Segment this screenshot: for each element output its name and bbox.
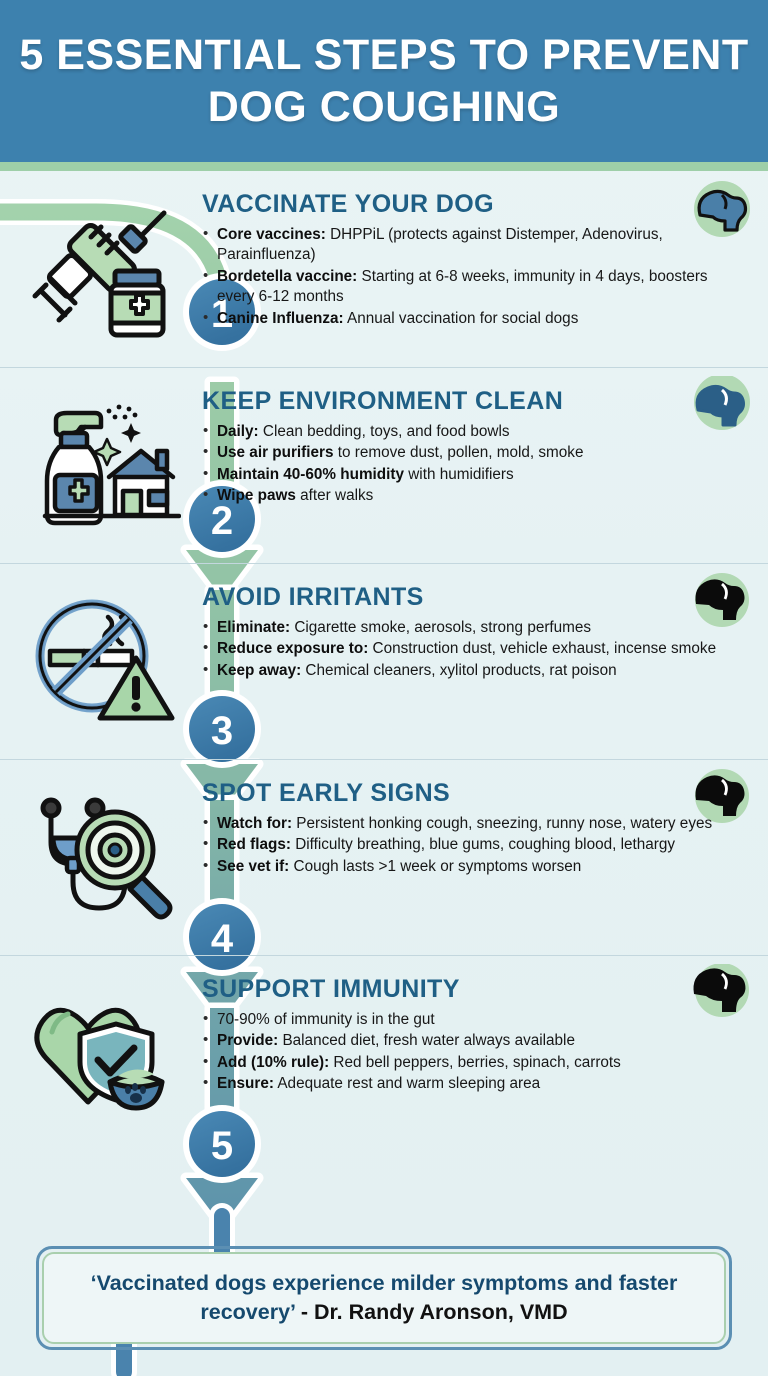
quote-text: ‘Vaccinated dogs experience milder sympt…	[60, 1269, 708, 1327]
quote-attribution: - Dr. Randy Aronson, VMD	[295, 1300, 568, 1324]
quote-inner-border: ‘Vaccinated dogs experience milder sympt…	[42, 1252, 726, 1344]
bullet-item: Ensure: Adequate rest and warm sleeping …	[202, 1074, 746, 1094]
bullet-item: Reduce exposure to: Construction dust, v…	[202, 639, 746, 659]
step-bullets: Eliminate: Cigarette smoke, aerosols, st…	[202, 618, 746, 681]
bullet-item: Maintain 40-60% humidity with humidifier…	[202, 465, 746, 485]
bullet-item: Red flags: Difficulty breathing, blue gu…	[202, 835, 746, 855]
bullet-item: Add (10% rule): Red bell peppers, berrie…	[202, 1053, 746, 1073]
step-title: Keep Environment Clean	[202, 386, 746, 416]
step-item: Vaccinate Your Dog Core vaccines: DHPPiL…	[0, 171, 768, 367]
step-item: Support Immunity 70-90% of immunity is i…	[0, 955, 768, 1151]
bullet-item: Bordetella vaccine: Starting at 6-8 week…	[202, 267, 746, 308]
spray-bottle-and-house-icon	[0, 382, 196, 553]
step-bullets: 70-90% of immunity is in the gut Provide…	[202, 1010, 746, 1095]
bullet-item: Watch for: Persistent honking cough, sne…	[202, 814, 746, 834]
bullet-item: Keep away: Chemical cleaners, xylitol pr…	[202, 661, 746, 681]
step-bullets: Core vaccines: DHPPiL (protects against …	[202, 225, 746, 329]
stethoscope-and-magnifier-icon	[0, 774, 196, 945]
step-body: Avoid Irritants Eliminate: Cigarette smo…	[196, 578, 750, 749]
syringe-and-vial-icon	[0, 185, 196, 357]
infographic-page: 5 Essential Steps to Prevent Dog Coughin…	[0, 0, 768, 1376]
step-item: Spot Early Signs Watch for: Persistent h…	[0, 759, 768, 955]
steps-list: Vaccinate Your Dog Core vaccines: DHPPiL…	[0, 171, 768, 1151]
step-title: Avoid Irritants	[202, 582, 746, 612]
bullet-item: Use air purifiers to remove dust, pollen…	[202, 443, 746, 463]
quote-footer: ‘Vaccinated dogs experience milder sympt…	[36, 1246, 732, 1350]
bullet-item: Wipe paws after walks	[202, 486, 746, 506]
step-body: Support Immunity 70-90% of immunity is i…	[196, 970, 750, 1141]
bullet-item: 70-90% of immunity is in the gut	[202, 1010, 746, 1030]
bullet-item: Provide: Balanced diet, fresh water alwa…	[202, 1031, 746, 1051]
step-item: Keep Environment Clean Daily: Clean bedd…	[0, 367, 768, 563]
step-body: Vaccinate Your Dog Core vaccines: DHPPiL…	[196, 185, 750, 357]
no-smoking-and-warning-icon	[0, 578, 196, 749]
heart-shield-and-bowl-icon	[0, 970, 196, 1141]
bullet-item: Eliminate: Cigarette smoke, aerosols, st…	[202, 618, 746, 638]
step-bullets: Daily: Clean bedding, toys, and food bow…	[202, 422, 746, 507]
header-accent-band	[0, 162, 768, 171]
step-title: Vaccinate Your Dog	[202, 189, 746, 219]
bullet-item: Core vaccines: DHPPiL (protects against …	[202, 225, 746, 266]
step-title: Support Immunity	[202, 974, 746, 1004]
step-body: Keep Environment Clean Daily: Clean bedd…	[196, 382, 750, 553]
step-body: Spot Early Signs Watch for: Persistent h…	[196, 774, 750, 945]
step-item: Avoid Irritants Eliminate: Cigarette smo…	[0, 563, 768, 759]
bullet-item: See vet if: Cough lasts >1 week or sympt…	[202, 857, 746, 877]
step-title: Spot Early Signs	[202, 778, 746, 808]
page-title: 5 Essential Steps to Prevent Dog Coughin…	[0, 29, 768, 133]
header-banner: 5 Essential Steps to Prevent Dog Coughin…	[0, 0, 768, 162]
bullet-item: Canine Influenza: Annual vaccination for…	[202, 309, 746, 329]
bullet-item: Daily: Clean bedding, toys, and food bow…	[202, 422, 746, 442]
step-bullets: Watch for: Persistent honking cough, sne…	[202, 814, 746, 877]
